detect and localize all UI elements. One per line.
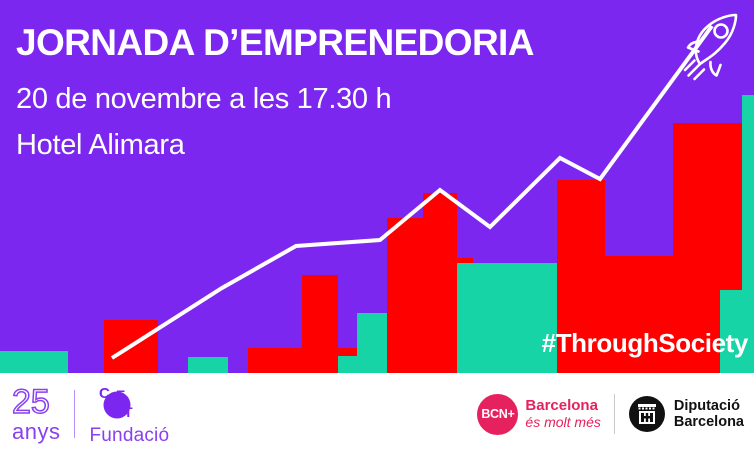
cett-mark-icon: C E T T	[89, 384, 147, 422]
logo-divider	[74, 390, 75, 438]
diputacio-wordmark: Diputació Barcelona	[674, 398, 744, 430]
diputacio-barcelona-logo: Diputació Barcelona	[628, 395, 744, 433]
cett-fundacio-label: Fundació	[89, 426, 169, 445]
svg-text:C: C	[99, 385, 110, 402]
chart-bar	[248, 348, 302, 373]
anniversary-number: 25	[12, 385, 50, 419]
event-venue: Hotel Alimara	[16, 131, 185, 160]
bcn-line-2: és molt més	[525, 415, 600, 431]
diputacio-line-2: Barcelona	[674, 414, 744, 430]
chart-bar	[0, 351, 68, 373]
bcn-plus-mark-icon: BCN+	[477, 394, 518, 435]
diputacio-crest-icon	[628, 395, 666, 433]
poster-artwork: JORNADA D’EMPRENEDORIA 20 de novembre a …	[0, 0, 754, 373]
page-title: JORNADA D’EMPRENEDORIA	[16, 24, 534, 61]
svg-text:T: T	[124, 404, 133, 420]
chart-bar	[357, 313, 387, 373]
chart-bar	[338, 356, 357, 373]
cett-fundacio-logo: C E T T Fundació	[89, 384, 169, 445]
event-poster: JORNADA D’EMPRENEDORIA 20 de novembre a …	[0, 0, 754, 454]
chart-bar	[158, 357, 188, 373]
bcn-wordmark: Barcelona és molt més	[525, 398, 600, 430]
svg-text:T: T	[107, 402, 116, 418]
chart-bar	[387, 218, 423, 373]
footer-logo-bar: 25 anys C E T T Fundació BCN+	[0, 373, 754, 454]
event-date: 20 de novembre a les 17.30 h	[16, 85, 391, 114]
anniversary-label: anys	[12, 421, 60, 443]
diputacio-line-1: Diputació	[674, 398, 744, 414]
footer-right-logos: BCN+ Barcelona és molt més	[477, 379, 744, 449]
footer-left-logos: 25 anys C E T T Fundació	[12, 379, 169, 449]
bcn-line-1: Barcelona	[525, 398, 600, 415]
barcelona-es-molt-mes-logo: BCN+ Barcelona és molt més	[477, 394, 600, 435]
svg-text:E: E	[116, 387, 125, 403]
rocket-icon	[674, 12, 746, 90]
chart-bar	[423, 193, 457, 373]
anniversary-logo: 25 anys	[12, 385, 60, 443]
bcn-plus-mark-text: BCN+	[481, 407, 514, 421]
campaign-hashtag: #ThroughSociety	[542, 330, 748, 356]
logo-divider-2	[614, 394, 615, 434]
chart-bar	[302, 275, 338, 373]
chart-bar	[188, 357, 228, 373]
